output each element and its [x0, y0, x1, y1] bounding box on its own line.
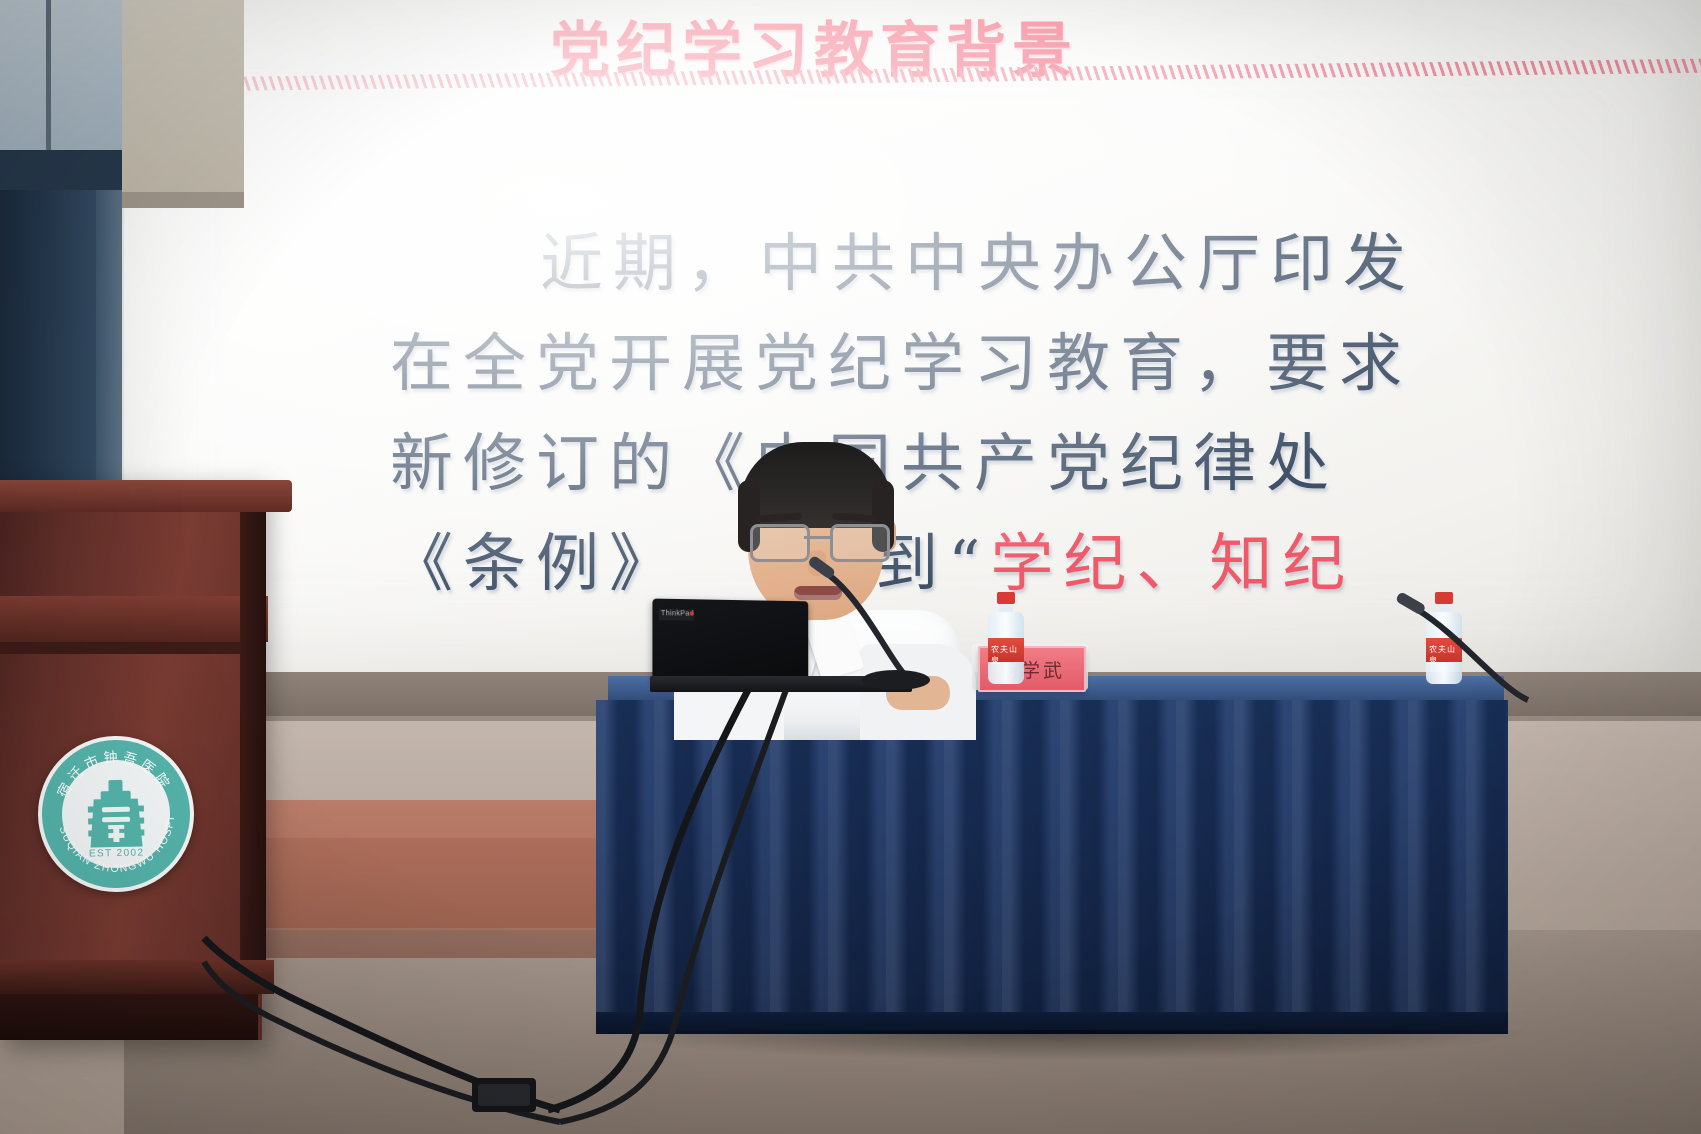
- slide-line-3: 新修订的《中国共产党纪律处: [390, 414, 1701, 514]
- laptop-brand-badge: ThinkPad: [659, 609, 694, 621]
- ceiling-beam: [0, 150, 122, 190]
- bottle-label-2: 农夫山泉: [1426, 638, 1462, 662]
- bottle-cap: [997, 592, 1015, 604]
- bottle-label-text: 农夫山泉: [991, 644, 1024, 666]
- conference-photo: 党纪学习教育背景 近期，中共中央办公厅印发 在全党开展党纪学习教育，要求 新修订…: [0, 0, 1701, 1134]
- speaker-nose: [808, 550, 826, 576]
- podium-lip-shadow: [0, 642, 252, 654]
- wall-upper-panel: [122, 0, 244, 192]
- table-skirt: [596, 700, 1508, 1030]
- window-mullion: [46, 0, 51, 150]
- svg-text:EST 2002: EST 2002: [89, 848, 145, 860]
- laptop-brand-dot: [690, 611, 694, 615]
- slide-line-4-part-a: 《条例》: [390, 527, 682, 600]
- hospital-logo-icon: 宿迁市钟吾医院 SUQIAN ZHONGWU HOSPITAL: [37, 735, 196, 894]
- logo-artwork: 宿迁市钟吾医院 SUQIAN ZHONGWU HOSPITAL: [37, 735, 196, 894]
- laptop-base: [650, 676, 912, 692]
- podium-top-surface: [0, 480, 292, 512]
- podium-base-shadow: [0, 994, 258, 1040]
- eyeglass-lens-left: [750, 524, 810, 562]
- podium-side-edge: [240, 512, 266, 964]
- window-pane: [0, 0, 122, 150]
- slide-line-1: 近期，中共中央办公厅印发: [390, 214, 1701, 314]
- bottle-label-text-2: 农夫山泉: [1429, 644, 1462, 666]
- slide-body-text: 近期，中共中央办公厅印发 在全党开展党纪学习教育，要求 新修订的《中国共产党纪律…: [390, 214, 1701, 614]
- table-ground-shadow: [596, 1030, 1526, 1060]
- slide-line-4-highlight: 学纪、知纪: [990, 527, 1355, 600]
- wall-panel-trim: [122, 192, 244, 208]
- eyeglass-bridge: [804, 536, 830, 539]
- laptop-icon: ThinkPad: [652, 599, 808, 684]
- slide-line-4: 《条例》 做到“学纪、知纪: [390, 514, 1701, 614]
- bottle-label: 农夫山泉: [988, 638, 1024, 662]
- bottle-cap-2: [1435, 592, 1453, 604]
- eyeglass-lens-right: [830, 524, 890, 562]
- slide-line-2: 在全党开展党纪学习教育，要求: [390, 314, 1701, 414]
- podium-lip: [0, 596, 268, 642]
- podium-base: [0, 960, 274, 994]
- speaker-mouth: [794, 586, 842, 600]
